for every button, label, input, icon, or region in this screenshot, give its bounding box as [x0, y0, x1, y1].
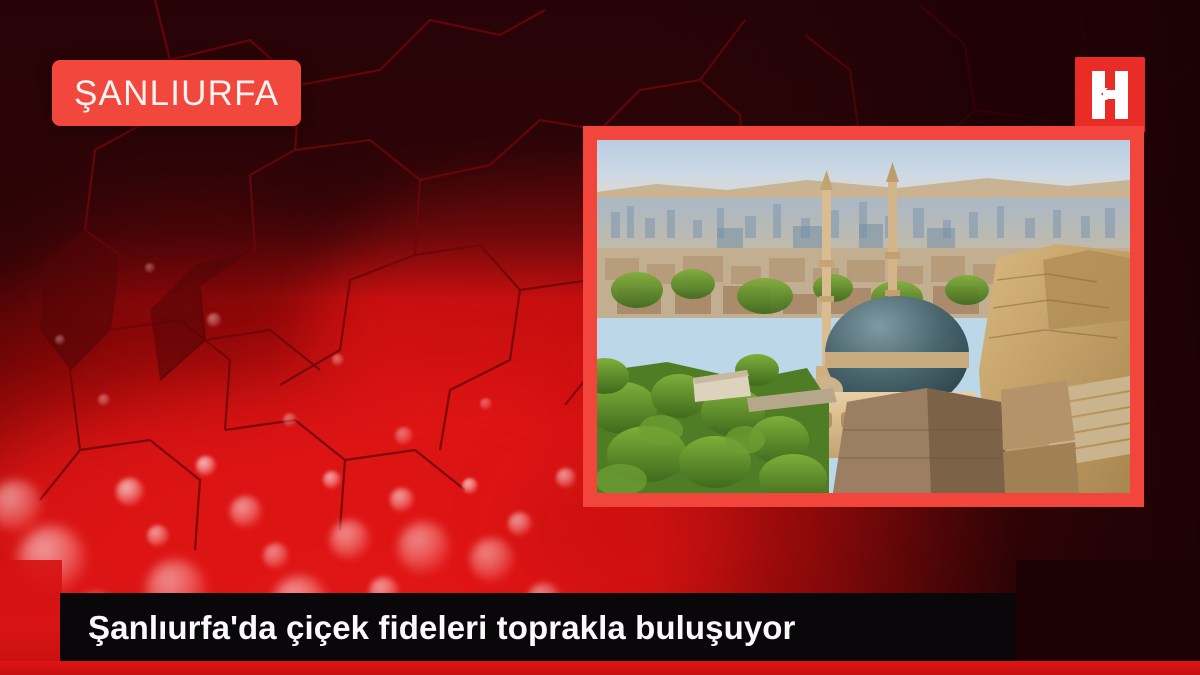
bokeh-dot: [330, 520, 370, 560]
bokeh-dot: [55, 335, 65, 345]
bottom-left-red-strip: [0, 560, 62, 675]
bokeh-dot: [508, 512, 532, 536]
article-photo: [597, 140, 1130, 493]
bokeh-dot: [395, 427, 413, 445]
bokeh-dot: [196, 456, 216, 476]
bokeh-dot: [98, 394, 110, 406]
bokeh-dot: [462, 478, 478, 494]
bokeh-dot: [332, 354, 344, 366]
location-badge[interactable]: ŞANLIURFA: [52, 60, 301, 126]
article-photo-frame: [583, 126, 1144, 507]
bokeh-dot: [263, 543, 289, 569]
bokeh-dot: [116, 478, 144, 506]
bokeh-dot: [230, 496, 262, 528]
bokeh-dot: [145, 263, 155, 273]
bokeh-dot: [283, 413, 297, 427]
bokeh-dot: [480, 398, 492, 410]
bokeh-dot: [0, 480, 42, 532]
page-title: Şanlıurfa'da çiçek fideleri toprakla bul…: [88, 611, 796, 644]
bokeh-dot: [398, 522, 450, 574]
bottom-red-bar: [0, 661, 1200, 675]
bottom-right-dark-strip: [1016, 560, 1200, 661]
headline-band: Şanlıurfa'da çiçek fideleri toprakla bul…: [60, 593, 1016, 662]
bokeh-dot: [556, 468, 576, 488]
h-logo-icon[interactable]: [1075, 57, 1145, 133]
location-badge-label: ŞANLIURFA: [74, 76, 279, 111]
bokeh-dot: [390, 488, 414, 512]
bokeh-dot: [207, 313, 221, 327]
bokeh-dot: [470, 538, 514, 582]
bokeh-dot: [147, 525, 169, 547]
bokeh-dot: [323, 471, 341, 489]
news-card: ŞANLIURFA: [0, 0, 1200, 675]
